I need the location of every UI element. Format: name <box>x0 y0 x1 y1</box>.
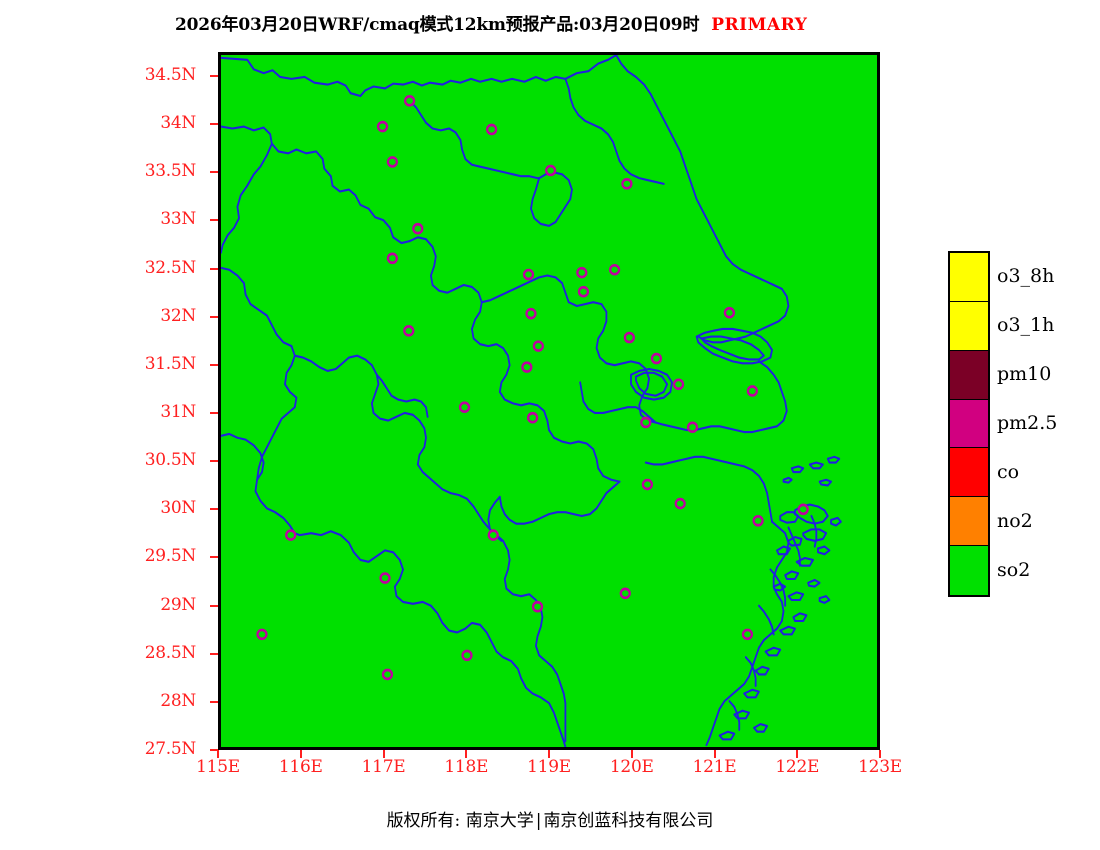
station-marker[interactable] <box>487 125 496 134</box>
y-axis-label: 31.5N <box>0 354 196 374</box>
x-axis-label: 121E <box>687 757 743 777</box>
y-axis-label: 31N <box>0 402 196 422</box>
station-group <box>258 96 808 679</box>
footer-owner: 版权所有: 南京大学 <box>387 811 534 831</box>
station-marker[interactable] <box>577 268 586 277</box>
station-marker[interactable] <box>286 531 295 540</box>
legend-label-co: co <box>997 461 1019 483</box>
station-marker[interactable] <box>463 651 472 660</box>
x-axis-label: 120E <box>604 757 660 777</box>
legend-label-o3-8h: o3_8h <box>997 265 1054 287</box>
x-axis-tick <box>796 750 798 758</box>
y-axis-label: 34.5N <box>0 65 196 85</box>
station-marker[interactable] <box>610 265 619 274</box>
legend-label-so2: so2 <box>997 559 1030 581</box>
x-axis-tick <box>548 750 550 758</box>
title-main-text: 2026年03月20日WRF/cmaq模式12km预报产品:03月20日09时 <box>175 15 699 35</box>
y-axis-tick <box>210 268 218 270</box>
station-marker[interactable] <box>533 602 542 611</box>
footer-separator: | <box>534 811 544 831</box>
station-marker[interactable] <box>621 589 630 598</box>
y-axis-tick <box>210 653 218 655</box>
y-axis-tick <box>210 556 218 558</box>
station-marker[interactable] <box>528 413 537 422</box>
y-axis-tick <box>210 364 218 366</box>
y-axis-label: 33N <box>0 209 196 229</box>
x-axis-tick <box>217 750 219 758</box>
y-axis-label: 30.5N <box>0 450 196 470</box>
station-marker[interactable] <box>743 630 752 639</box>
y-axis-label: 27.5N <box>0 739 196 759</box>
station-marker[interactable] <box>725 308 734 317</box>
station-marker[interactable] <box>413 224 422 233</box>
y-axis-tick <box>210 316 218 318</box>
station-marker[interactable] <box>748 387 757 396</box>
legend-swatch-so2[interactable] <box>950 546 988 595</box>
station-marker[interactable] <box>388 254 397 263</box>
x-axis-tick <box>300 750 302 758</box>
y-axis-label: 29N <box>0 595 196 615</box>
station-marker[interactable] <box>524 270 533 279</box>
title-primary-text: PRIMARY <box>699 15 807 35</box>
station-marker[interactable] <box>534 342 543 351</box>
station-marker[interactable] <box>641 418 650 427</box>
y-axis-tick <box>210 605 218 607</box>
station-marker[interactable] <box>258 630 267 639</box>
map-visualization-page: 2026年03月20日WRF/cmaq模式12km预报产品:03月20日09时P… <box>0 0 1100 850</box>
legend-swatch-co[interactable] <box>950 448 988 497</box>
y-axis-tick <box>210 508 218 510</box>
x-axis-label: 119E <box>521 757 577 777</box>
y-axis-tick <box>210 75 218 77</box>
page-title: 2026年03月20日WRF/cmaq模式12km预报产品:03月20日09时P… <box>175 10 807 35</box>
legend-swatch-pm10[interactable] <box>950 351 988 400</box>
y-axis-label: 32N <box>0 306 196 326</box>
legend-swatch-pm2-5[interactable] <box>950 400 988 449</box>
pollutant-legend[interactable] <box>948 251 990 597</box>
station-marker[interactable] <box>460 403 469 412</box>
footer-company: 南京创蓝科技有限公司 <box>543 811 713 831</box>
station-marker[interactable] <box>579 287 588 296</box>
legend-label-o3-1h: o3_1h <box>997 314 1054 336</box>
station-marker[interactable] <box>522 363 531 372</box>
station-marker[interactable] <box>754 516 763 525</box>
legend-label-no2: no2 <box>997 510 1033 532</box>
station-marker[interactable] <box>489 531 498 540</box>
x-axis-tick <box>465 750 467 758</box>
station-marker[interactable] <box>388 157 397 166</box>
x-axis-label: 122E <box>769 757 825 777</box>
map-svg <box>221 55 877 747</box>
station-marker[interactable] <box>799 505 808 514</box>
x-axis-tick <box>879 750 881 758</box>
y-axis-label: 28.5N <box>0 643 196 663</box>
station-marker[interactable] <box>404 326 413 335</box>
legend-swatch-o3-1h[interactable] <box>950 302 988 351</box>
station-marker[interactable] <box>405 96 414 105</box>
x-axis-label: 123E <box>852 757 908 777</box>
station-markers <box>258 96 808 679</box>
x-axis-label: 118E <box>438 757 494 777</box>
station-marker[interactable] <box>625 333 634 342</box>
y-axis-label: 34N <box>0 113 196 133</box>
station-marker[interactable] <box>383 670 392 679</box>
y-axis-tick <box>210 460 218 462</box>
station-marker[interactable] <box>527 309 536 318</box>
y-axis-tick <box>210 123 218 125</box>
station-marker[interactable] <box>378 122 387 131</box>
legend-swatch-o3-8h[interactable] <box>950 253 988 302</box>
y-axis-tick <box>210 701 218 703</box>
map-plot-area[interactable] <box>218 52 880 750</box>
y-axis-label: 33.5N <box>0 161 196 181</box>
x-axis-tick <box>631 750 633 758</box>
station-marker[interactable] <box>643 480 652 489</box>
station-marker[interactable] <box>381 574 390 583</box>
y-axis-label: 29.5N <box>0 546 196 566</box>
x-axis-tick <box>383 750 385 758</box>
legend-label-pm10: pm10 <box>997 363 1051 385</box>
station-marker[interactable] <box>622 179 631 188</box>
y-axis-tick <box>210 412 218 414</box>
y-axis-label: 28N <box>0 691 196 711</box>
administrative-boundaries <box>221 55 841 747</box>
y-axis-label: 30N <box>0 498 196 518</box>
x-axis-label: 116E <box>273 757 329 777</box>
y-axis-label: 32.5N <box>0 258 196 278</box>
x-axis-label: 117E <box>356 757 412 777</box>
station-marker[interactable] <box>546 166 555 175</box>
copyright-footer: 版权所有: 南京大学|南京创蓝科技有限公司 <box>0 806 1100 831</box>
station-marker[interactable] <box>676 499 685 508</box>
legend-swatch-no2[interactable] <box>950 497 988 546</box>
station-marker[interactable] <box>674 380 683 389</box>
station-marker[interactable] <box>652 354 661 363</box>
x-axis-tick <box>714 750 716 758</box>
x-axis-label: 115E <box>190 757 246 777</box>
y-axis-tick <box>210 171 218 173</box>
y-axis-tick <box>210 219 218 221</box>
legend-label-pm2-5: pm2.5 <box>997 412 1057 434</box>
station-marker[interactable] <box>688 423 697 432</box>
